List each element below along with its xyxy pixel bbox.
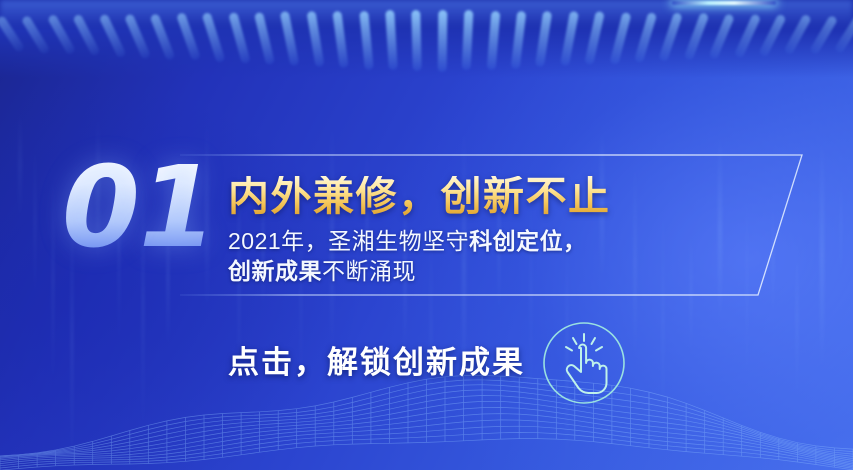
subtitle-line-2: 创新成果不断涌现 (228, 257, 416, 286)
subtitle-line-1: 2021年，圣湘生物坚守科创定位， (228, 227, 587, 256)
slide-index-number: 01 (62, 152, 216, 264)
subtitle-1-normal: 2021年，圣湘生物坚守 (228, 228, 469, 254)
cta-label[interactable]: 点击，解锁创新成果 (228, 337, 525, 382)
subtitle-2-normal: 不断涌现 (322, 258, 416, 284)
light-streak (840, 169, 842, 286)
slide-canvas: 01 内外兼修，创新不止 2021年，圣湘生物坚守科创定位， 创新成果不断涌现 … (0, 0, 853, 470)
light-streak (34, 141, 36, 304)
headline-title: 内外兼修，创新不止 (228, 176, 611, 217)
tap-hand-icon[interactable] (541, 320, 627, 406)
light-streak (18, 110, 22, 220)
subtitle-1-bold: 科创定位， (469, 228, 587, 254)
subtitle-2-bold: 创新成果 (228, 258, 322, 284)
